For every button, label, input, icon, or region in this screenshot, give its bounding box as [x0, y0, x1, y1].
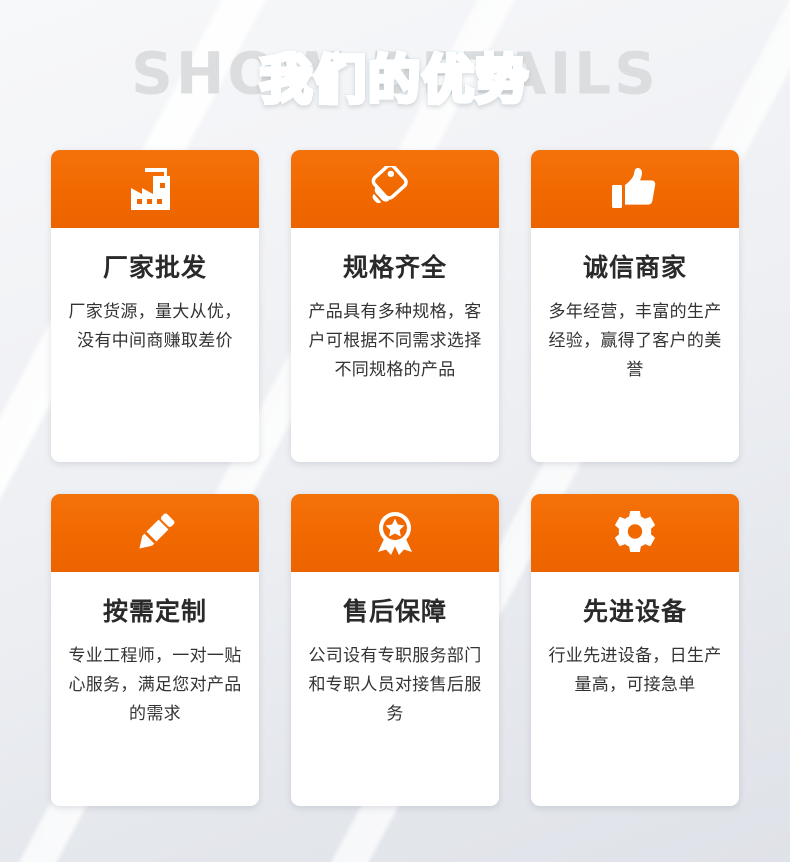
card-icon-band: [291, 150, 499, 228]
card-body: 先进设备 行业先进设备，日生产量高，可接急单: [531, 572, 739, 806]
card-icon-band: [531, 494, 739, 572]
card-description: 专业工程师，一对一贴心服务，满足您对产品的需求: [67, 642, 243, 730]
advantage-card[interactable]: 先进设备 行业先进设备，日生产量高，可接急单: [531, 494, 739, 806]
card-icon-band: [531, 150, 739, 228]
card-body: 规格齐全 产品具有多种规格，客户可根据不同需求选择不同规格的产品: [291, 228, 499, 462]
card-description: 多年经营，丰富的生产经验，赢得了客户的美誉: [547, 298, 723, 386]
card-title: 规格齐全: [307, 254, 483, 282]
card-body: 诚信商家 多年经营，丰富的生产经验，赢得了客户的美誉: [531, 228, 739, 462]
pencil-icon: [131, 510, 179, 556]
card-title: 先进设备: [547, 598, 723, 626]
card-body: 厂家批发 厂家货源，量大从优，没有中间商赚取差价: [51, 228, 259, 462]
card-description: 公司设有专职服务部门和专职人员对接售后服务: [307, 642, 483, 730]
advantage-card[interactable]: 厂家批发 厂家货源，量大从优，没有中间商赚取差价: [51, 150, 259, 462]
card-body: 售后保障 公司设有专职服务部门和专职人员对接售后服务: [291, 572, 499, 806]
card-title: 诚信商家: [547, 254, 723, 282]
award-medal-icon: [371, 510, 419, 556]
advantage-card[interactable]: 诚信商家 多年经营，丰富的生产经验，赢得了客户的美誉: [531, 150, 739, 462]
page-title: 我们的优势: [260, 38, 530, 113]
card-icon-band: [51, 494, 259, 572]
section-header: SHOW DETAILS 我们的优势: [0, 0, 790, 150]
card-title: 厂家批发: [67, 254, 243, 282]
gear-icon: [611, 510, 659, 556]
thumbs-up-icon: [610, 166, 660, 212]
card-description: 行业先进设备，日生产量高，可接急单: [547, 642, 723, 700]
advantages-grid: 厂家批发 厂家货源，量大从优，没有中间商赚取差价 规格齐全 产品具有多种规格，客…: [0, 150, 790, 806]
advantage-card[interactable]: 售后保障 公司设有专职服务部门和专职人员对接售后服务: [291, 494, 499, 806]
factory-icon: [129, 166, 181, 212]
advantage-card[interactable]: 规格齐全 产品具有多种规格，客户可根据不同需求选择不同规格的产品: [291, 150, 499, 462]
card-title: 售后保障: [307, 598, 483, 626]
advantage-card[interactable]: 按需定制 专业工程师，一对一贴心服务，满足您对产品的需求: [51, 494, 259, 806]
card-body: 按需定制 专业工程师，一对一贴心服务，满足您对产品的需求: [51, 572, 259, 806]
title-stack: SHOW DETAILS 我们的优势: [0, 25, 790, 125]
card-icon-band: [291, 494, 499, 572]
card-title: 按需定制: [67, 598, 243, 626]
card-description: 产品具有多种规格，客户可根据不同需求选择不同规格的产品: [307, 298, 483, 386]
card-icon-band: [51, 150, 259, 228]
price-tags-icon: [369, 166, 421, 212]
card-description: 厂家货源，量大从优，没有中间商赚取差价: [67, 298, 243, 356]
